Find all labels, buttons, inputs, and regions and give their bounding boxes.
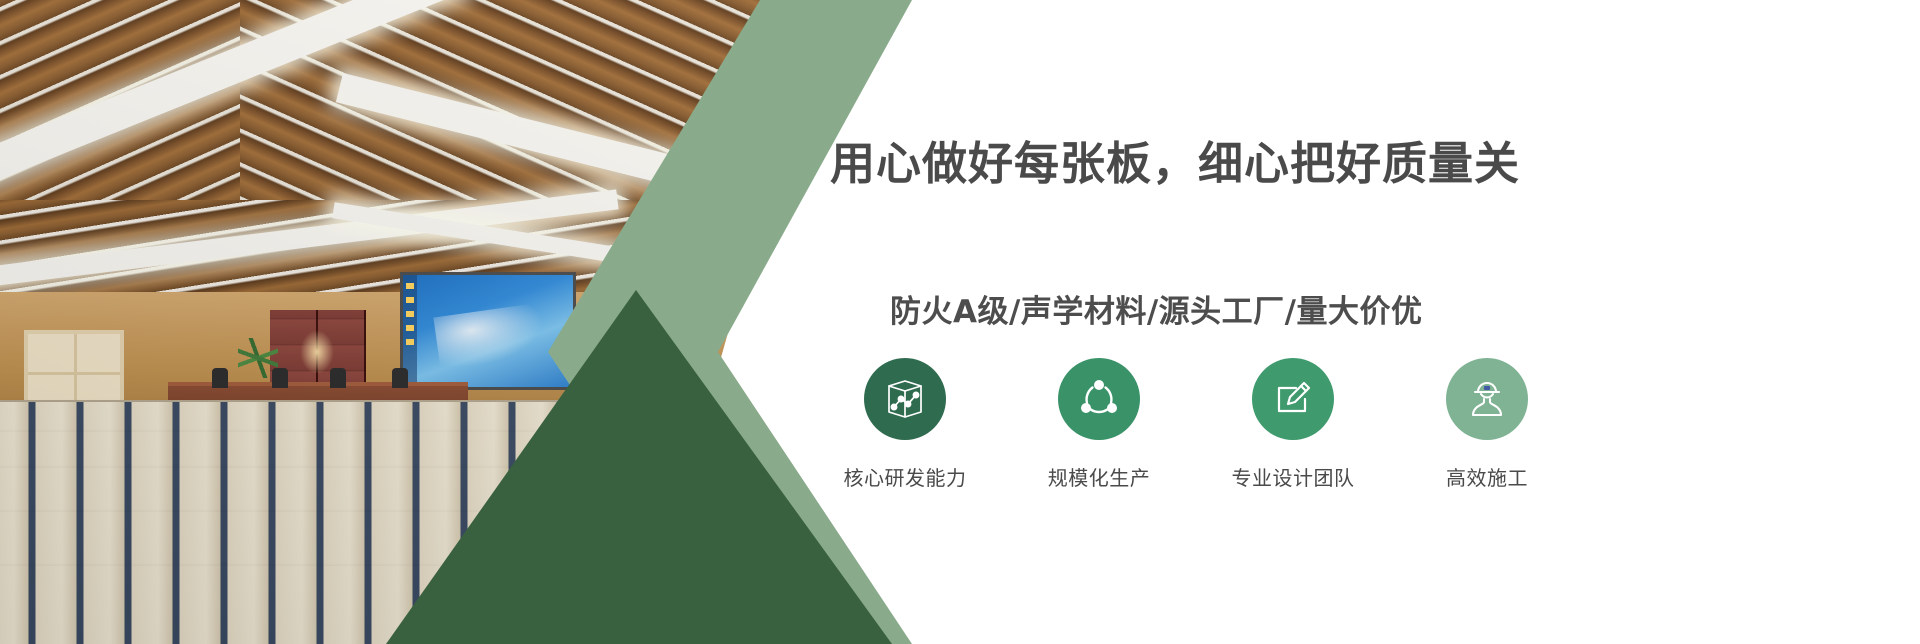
feature-icon-circle: [1058, 358, 1140, 440]
feature-icon-circle: [1446, 358, 1528, 440]
pencil-document-icon: [1271, 377, 1315, 421]
feature-icon-circle: [1252, 358, 1334, 440]
feature-label: 规模化生产: [1034, 462, 1164, 491]
feature-list: 核心研发能力 规模化生产: [840, 358, 1552, 491]
feature-item-design-team[interactable]: 专业设计团队: [1228, 358, 1358, 491]
feature-item-core-rd[interactable]: 核心研发能力: [840, 358, 970, 491]
feature-label: 高效施工: [1422, 462, 1552, 491]
banner-content: 用心做好每张板，细心把好质量关 防火A级/声学材料/源头工厂/量大价优: [830, 0, 1920, 644]
banner-subtitle: 防火A级/声学材料/源头工厂/量大价优: [890, 286, 1422, 331]
cube-network-icon: [883, 377, 927, 421]
helmet-worker-icon: [1465, 377, 1509, 421]
promo-banner: 用心做好每张板，细心把好质量关 防火A级/声学材料/源头工厂/量大价优: [0, 0, 1920, 644]
feature-label: 专业设计团队: [1228, 462, 1358, 491]
feature-item-efficient-construction[interactable]: 高效施工: [1422, 358, 1552, 491]
feature-icon-circle: [864, 358, 946, 440]
feature-label: 核心研发能力: [840, 462, 970, 491]
banner-headline: 用心做好每张板，细心把好质量关: [830, 127, 1520, 192]
feature-item-scale-production[interactable]: 规模化生产: [1034, 358, 1164, 491]
share-nodes-icon: [1077, 377, 1121, 421]
